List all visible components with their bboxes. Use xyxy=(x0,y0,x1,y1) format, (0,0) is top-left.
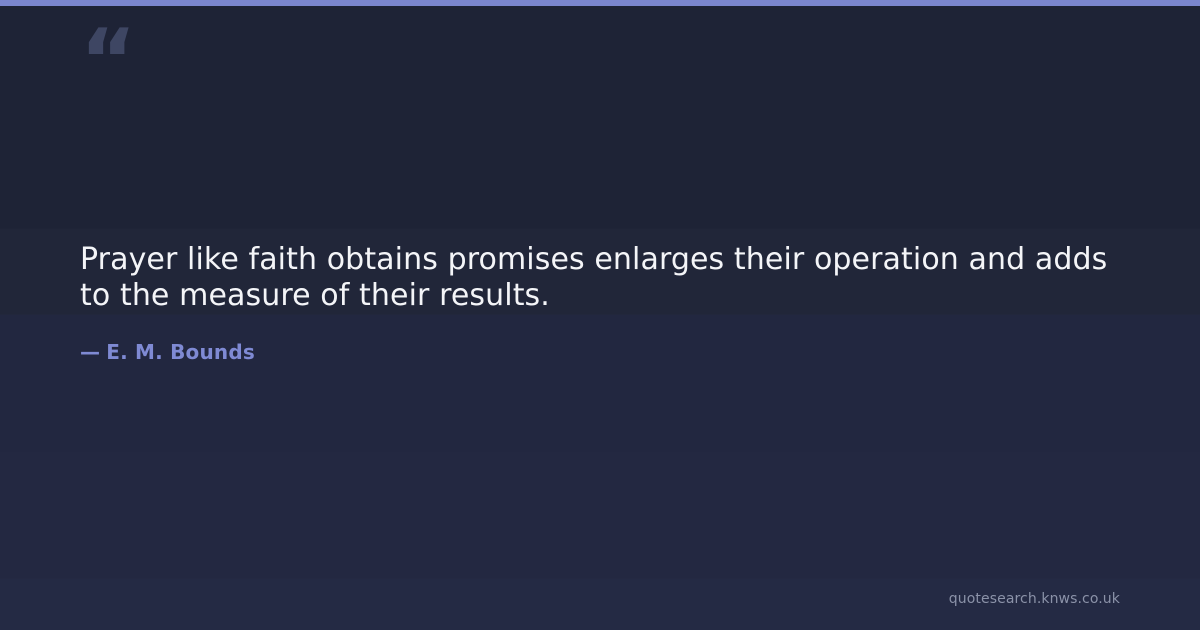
quote-body: Prayer like faith obtains promises enlar… xyxy=(80,242,1120,314)
open-quote-icon: “ xyxy=(80,18,135,104)
quote-card: “ Prayer like faith obtains promises enl… xyxy=(0,0,1200,630)
top-accent-bar xyxy=(0,0,1200,6)
site-url-footer: quotesearch.knws.co.uk xyxy=(949,590,1120,608)
quote-text: Prayer like faith obtains promises enlar… xyxy=(80,242,1120,314)
author-name: E. M. Bounds xyxy=(106,340,255,364)
em-dash: — xyxy=(80,339,100,365)
quote-attribution: —E. M. Bounds xyxy=(80,339,255,365)
